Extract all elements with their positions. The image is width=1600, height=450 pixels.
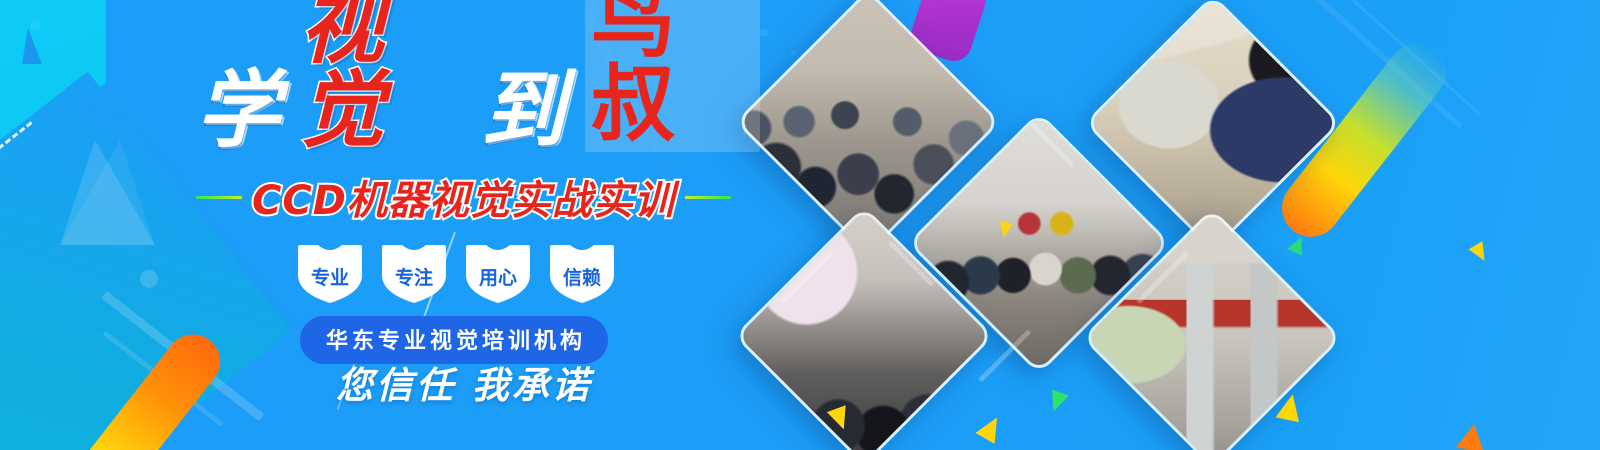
subtitle-rule-right — [685, 196, 731, 199]
confetti-triangle-green-1 — [1045, 390, 1069, 415]
marketing-banner: 学 视觉 到 鸟叔 CCD机器视觉实战实训 专业 专注 — [0, 0, 1600, 450]
headline-part-4: 鸟叔 — [585, 0, 760, 152]
badge-item-3: 用心 — [464, 243, 532, 305]
badge-label-1: 专业 — [311, 263, 349, 290]
confetti-triangle-yellow-5 — [997, 221, 1014, 239]
headline-part-3: 到 — [481, 68, 567, 152]
banner-text-block: 学 视觉 到 鸟叔 CCD机器视觉实战实训 专业 专注 — [0, 0, 760, 450]
badge-item-4: 信赖 — [548, 243, 616, 305]
confetti-triangle-yellow-2 — [975, 412, 1006, 444]
headline-part-1: 学 — [196, 68, 282, 152]
badge-label-4: 信赖 — [563, 263, 601, 290]
badge-label-2: 专注 — [395, 263, 433, 290]
badge-item-1: 专业 — [296, 243, 364, 305]
subtitle-text: CCD机器视觉实战实训 — [252, 168, 675, 226]
headline: 学 视觉 到 鸟叔 — [196, 48, 760, 152]
confetti-triangle-yellow-3 — [1276, 392, 1305, 422]
badge-label-3: 用心 — [479, 263, 517, 290]
subtitle-row: CCD机器视觉实战实训 — [196, 168, 716, 226]
subtitle-rule-left — [196, 196, 242, 199]
photo-collage — [730, 0, 1600, 450]
confetti-triangle-yellow-4 — [1469, 241, 1492, 265]
confetti-triangle-green-2 — [1287, 233, 1309, 255]
feature-badges: 专业 专注 用心 信赖 — [296, 243, 616, 305]
confetti-triangle-orange-1 — [1456, 422, 1488, 450]
headline-part-2: 视觉 — [300, 0, 463, 152]
tagline-text: 您信任 我承诺 — [336, 355, 592, 409]
badge-item-2: 专注 — [380, 243, 448, 305]
